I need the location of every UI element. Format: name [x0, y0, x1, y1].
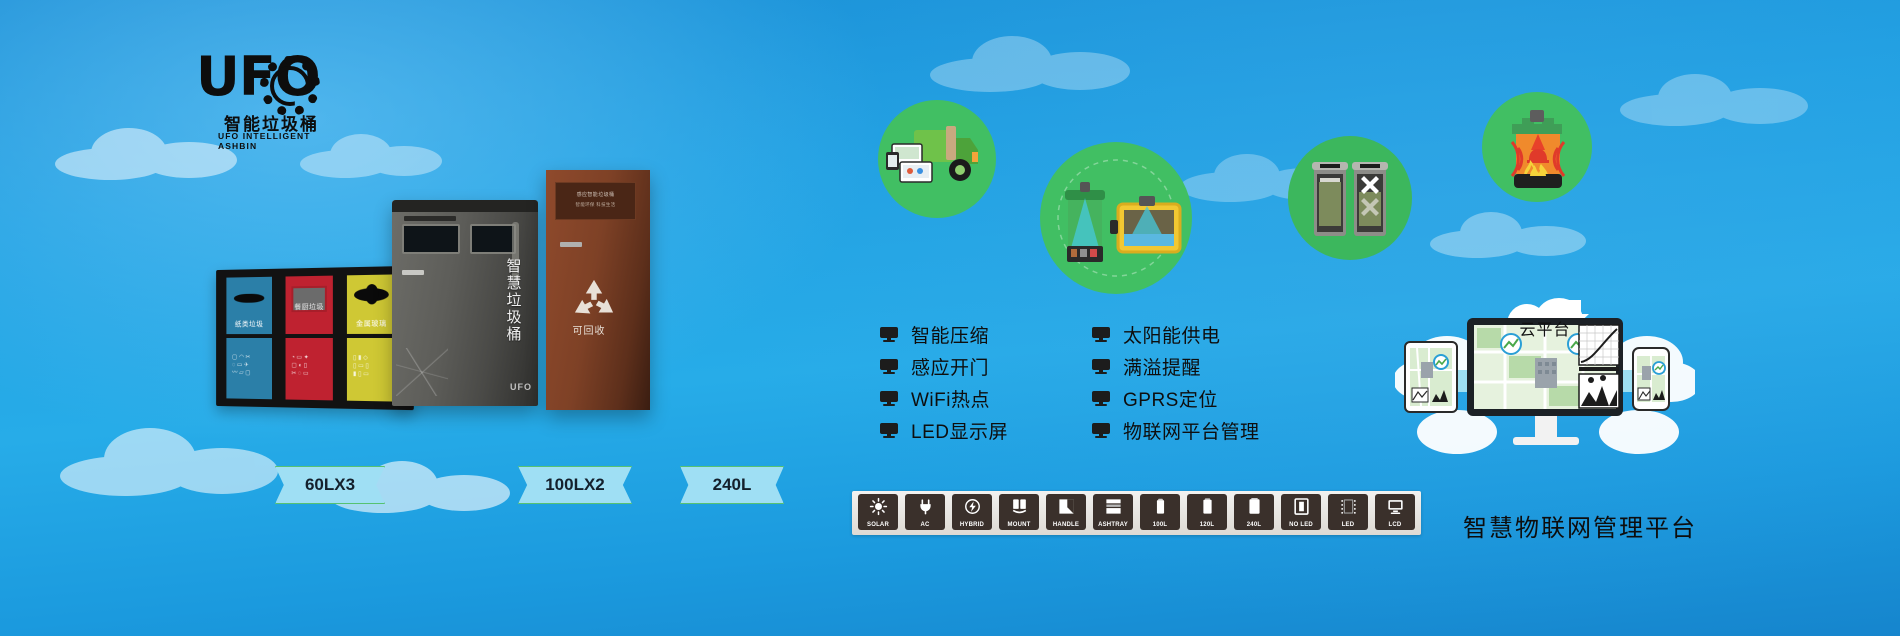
- monitor-icon: [880, 359, 898, 374]
- spec-label: 240L: [1234, 519, 1274, 530]
- bin-compartment-metal-glass: 金属玻璃 ▯ ▮ ◇▯ ▭ ▯▮ ▯ ▭: [344, 274, 399, 401]
- feature-item: 智能压缩: [880, 318, 1008, 350]
- bin-compartment-kitchen: 餐厨垃圾 ◔ ▭ ✦▢ ◐ ▯✂ ◌ ▭: [283, 276, 336, 401]
- spec-hybrid[interactable]: HYBRID: [950, 494, 994, 532]
- product-triple-sorting-bin: 纸类垃圾 ▢ ◠ ✂◌ ▭ ✈〰 ▱ ▢ 餐厨垃圾 ◔ ▭ ✦▢ ◐ ▯✂ ◌ …: [212, 268, 412, 408]
- capacity-label-100lx2: 100LX2: [518, 466, 632, 504]
- spec-lcd[interactable]: LCD: [1373, 494, 1417, 532]
- compartment-label: 金属玻璃: [347, 319, 396, 329]
- spec-label: MOUNT: [999, 519, 1039, 530]
- feature-item: WiFi热点: [880, 382, 1008, 414]
- bin-handle: [560, 242, 582, 247]
- spec-label: AC: [905, 519, 945, 530]
- bin-100l-icon: [1140, 494, 1180, 519]
- bin-header-line-2: 智能环保 科技生活: [556, 202, 635, 208]
- compartment-lower: ▯ ▮ ◇▯ ▭ ▯▮ ▯ ▭: [347, 338, 396, 402]
- feature-label: 智能压缩: [911, 321, 989, 348]
- spec-label: LED: [1328, 519, 1368, 530]
- bin-120l-icon: [1187, 494, 1227, 519]
- feature-item: 物联网平台管理: [1092, 414, 1260, 446]
- cloud-decoration: [930, 30, 1140, 100]
- monitor-icon: [1092, 391, 1110, 406]
- product-smart-gray-bin: 智慧垃圾桶 UFO: [392, 200, 538, 406]
- spec-label: LCD: [1375, 519, 1415, 530]
- feature-item: GPRS定位: [1092, 382, 1260, 414]
- feature-label: 物联网平台管理: [1123, 417, 1260, 444]
- hybrid-icon: [952, 494, 992, 519]
- bin-display-screen: [402, 224, 460, 254]
- mount-icon: [999, 494, 1039, 519]
- feature-label: 满溢提醒: [1123, 353, 1201, 380]
- spec-icon-strip: SOLAR AC HYBRID MOUNT HANDLE: [852, 491, 1421, 535]
- fire-alarm-bin-icon: [1482, 92, 1592, 202]
- feature-label: WiFi热点: [911, 385, 990, 412]
- bin-header-line-1: 感应智能垃圾桶: [556, 191, 635, 198]
- cloud-decoration: [60, 420, 290, 506]
- spec-240l[interactable]: 240L: [1232, 494, 1276, 532]
- compartment-upper: 纸类垃圾: [226, 277, 272, 334]
- fire-alarm-circle: [1482, 92, 1592, 202]
- drop-slot: [234, 294, 264, 303]
- feature-label: LED显示屏: [911, 417, 1008, 444]
- compartment-upper: 餐厨垃圾: [286, 276, 333, 334]
- bin-reader-strip: [404, 216, 456, 221]
- compartment-lower: ◔ ▭ ✦▢ ◐ ▯✂ ◌ ▭: [286, 338, 333, 400]
- compartment-label: 纸类垃圾: [226, 319, 272, 329]
- bin-display-screen-2: [470, 224, 516, 254]
- feature-label: 感应开门: [911, 353, 989, 380]
- litter-graphic: ▯ ▮ ◇▯ ▭ ▯▮ ▯ ▭: [353, 354, 392, 379]
- bin-header-plate: 感应智能垃圾桶 智能环保 科技生活: [555, 182, 636, 220]
- capacity-label-60lx3: 60LX3: [275, 466, 385, 504]
- cloud-decoration: [1430, 210, 1600, 266]
- ac-plug-icon: [905, 494, 945, 519]
- banner-canvas: UFO 智能垃圾桶 UFO INTELLIGENT ASHBIN 纸类垃圾 ▢ …: [0, 0, 1900, 636]
- bin-frame: 纸类垃圾 ▢ ◠ ✂◌ ▭ ✈〰 ▱ ▢ 餐厨垃圾 ◔ ▭ ✦▢ ◐ ▯✂ ◌ …: [216, 266, 414, 410]
- product-brown-recycle-bin: 感应智能垃圾桶 智能环保 科技生活 可回收: [546, 170, 650, 410]
- brand-logo: UFO 智能垃圾桶 UFO INTELLIGENT ASHBIN: [196, 52, 324, 148]
- recycle-label: 可回收: [546, 322, 632, 337]
- feature-item: LED显示屏: [880, 414, 1008, 446]
- twin-bin-circle: [1288, 136, 1412, 260]
- feature-label: GPRS定位: [1123, 385, 1218, 412]
- compartment-label: 餐厨垃圾: [286, 302, 333, 312]
- spec-120l[interactable]: 120L: [1185, 494, 1229, 532]
- feature-label: 太阳能供电: [1123, 321, 1221, 348]
- fleet-management-circle: [878, 100, 996, 218]
- bin-lid: [392, 200, 538, 212]
- cloud-decoration: [1620, 70, 1820, 136]
- capacity-label-240l: 240L: [680, 466, 784, 504]
- drop-slot-2: [365, 284, 378, 305]
- monitor-icon: [1092, 327, 1110, 342]
- feature-item: 满溢提醒: [1092, 350, 1260, 382]
- feature-item: 太阳能供电: [1092, 318, 1260, 350]
- spec-solar[interactable]: SOLAR: [856, 494, 900, 532]
- lcd-icon: [1375, 494, 1415, 519]
- feature-item: 感应开门: [880, 350, 1008, 382]
- feature-column-left: 智能压缩 感应开门 WiFi热点 LED显示屏: [880, 318, 1008, 446]
- compaction-circle: [1040, 142, 1192, 294]
- bin-crack-graphic: [396, 348, 448, 396]
- spec-label: 100L: [1140, 519, 1180, 530]
- litter-graphic: ▢ ◠ ✂◌ ▭ ✈〰 ▱ ▢: [232, 354, 268, 378]
- spec-label: 120L: [1187, 519, 1227, 530]
- spec-label: NO LED: [1281, 519, 1321, 530]
- spec-ashtray[interactable]: ASHTRAY: [1091, 494, 1135, 532]
- monitor-icon: [1092, 359, 1110, 374]
- sensor-bin-icon: [1040, 142, 1192, 294]
- led-icon: [1328, 494, 1368, 519]
- spec-label: HANDLE: [1046, 519, 1086, 530]
- monitor-icon: [1092, 423, 1110, 438]
- monitor-icon: [880, 327, 898, 342]
- spec-no-led[interactable]: NO LED: [1279, 494, 1323, 532]
- garbage-truck-icon: [878, 100, 996, 218]
- twin-compactor-icon: [1288, 136, 1412, 260]
- spec-mount[interactable]: MOUNT: [997, 494, 1041, 532]
- bin-brand-mark: UFO: [510, 382, 532, 392]
- no-led-icon: [1281, 494, 1321, 519]
- bin-240l-icon: [1234, 494, 1274, 519]
- logo-english-name: UFO INTELLIGENT ASHBIN: [218, 131, 324, 151]
- solar-icon: [858, 494, 898, 519]
- feature-column-right: 太阳能供电 满溢提醒 GPRS定位 物联网平台管理: [1092, 318, 1260, 446]
- bin-handle: [402, 270, 424, 275]
- monitor-icon: [880, 391, 898, 406]
- spec-label: HYBRID: [952, 519, 992, 530]
- bin-side-text: 智慧垃圾桶: [506, 258, 522, 343]
- monitor-icon: [880, 423, 898, 438]
- compartment-upper: 金属玻璃: [347, 274, 396, 334]
- iot-platform-caption: 智慧物联网管理平台: [1430, 508, 1730, 543]
- spec-label: SOLAR: [858, 519, 898, 530]
- spec-handle[interactable]: HANDLE: [1044, 494, 1088, 532]
- spec-ac[interactable]: AC: [903, 494, 947, 532]
- cloud-platform-label: 云平台: [1497, 316, 1593, 340]
- handle-icon: [1046, 494, 1086, 519]
- spec-led[interactable]: LED: [1326, 494, 1370, 532]
- spec-100l[interactable]: 100L: [1138, 494, 1182, 532]
- ashtray-icon: [1093, 494, 1133, 519]
- compartment-lower: ▢ ◠ ✂◌ ▭ ✈〰 ▱ ▢: [226, 338, 272, 399]
- litter-graphic: ◔ ▭ ✦▢ ◐ ▯✂ ◌ ▭: [291, 354, 328, 378]
- recycle-symbol-icon: [572, 278, 616, 318]
- spec-label: ASHTRAY: [1093, 519, 1133, 530]
- bin-compartment-paper: 纸类垃圾 ▢ ◠ ✂◌ ▭ ✈〰 ▱ ▢: [224, 277, 275, 400]
